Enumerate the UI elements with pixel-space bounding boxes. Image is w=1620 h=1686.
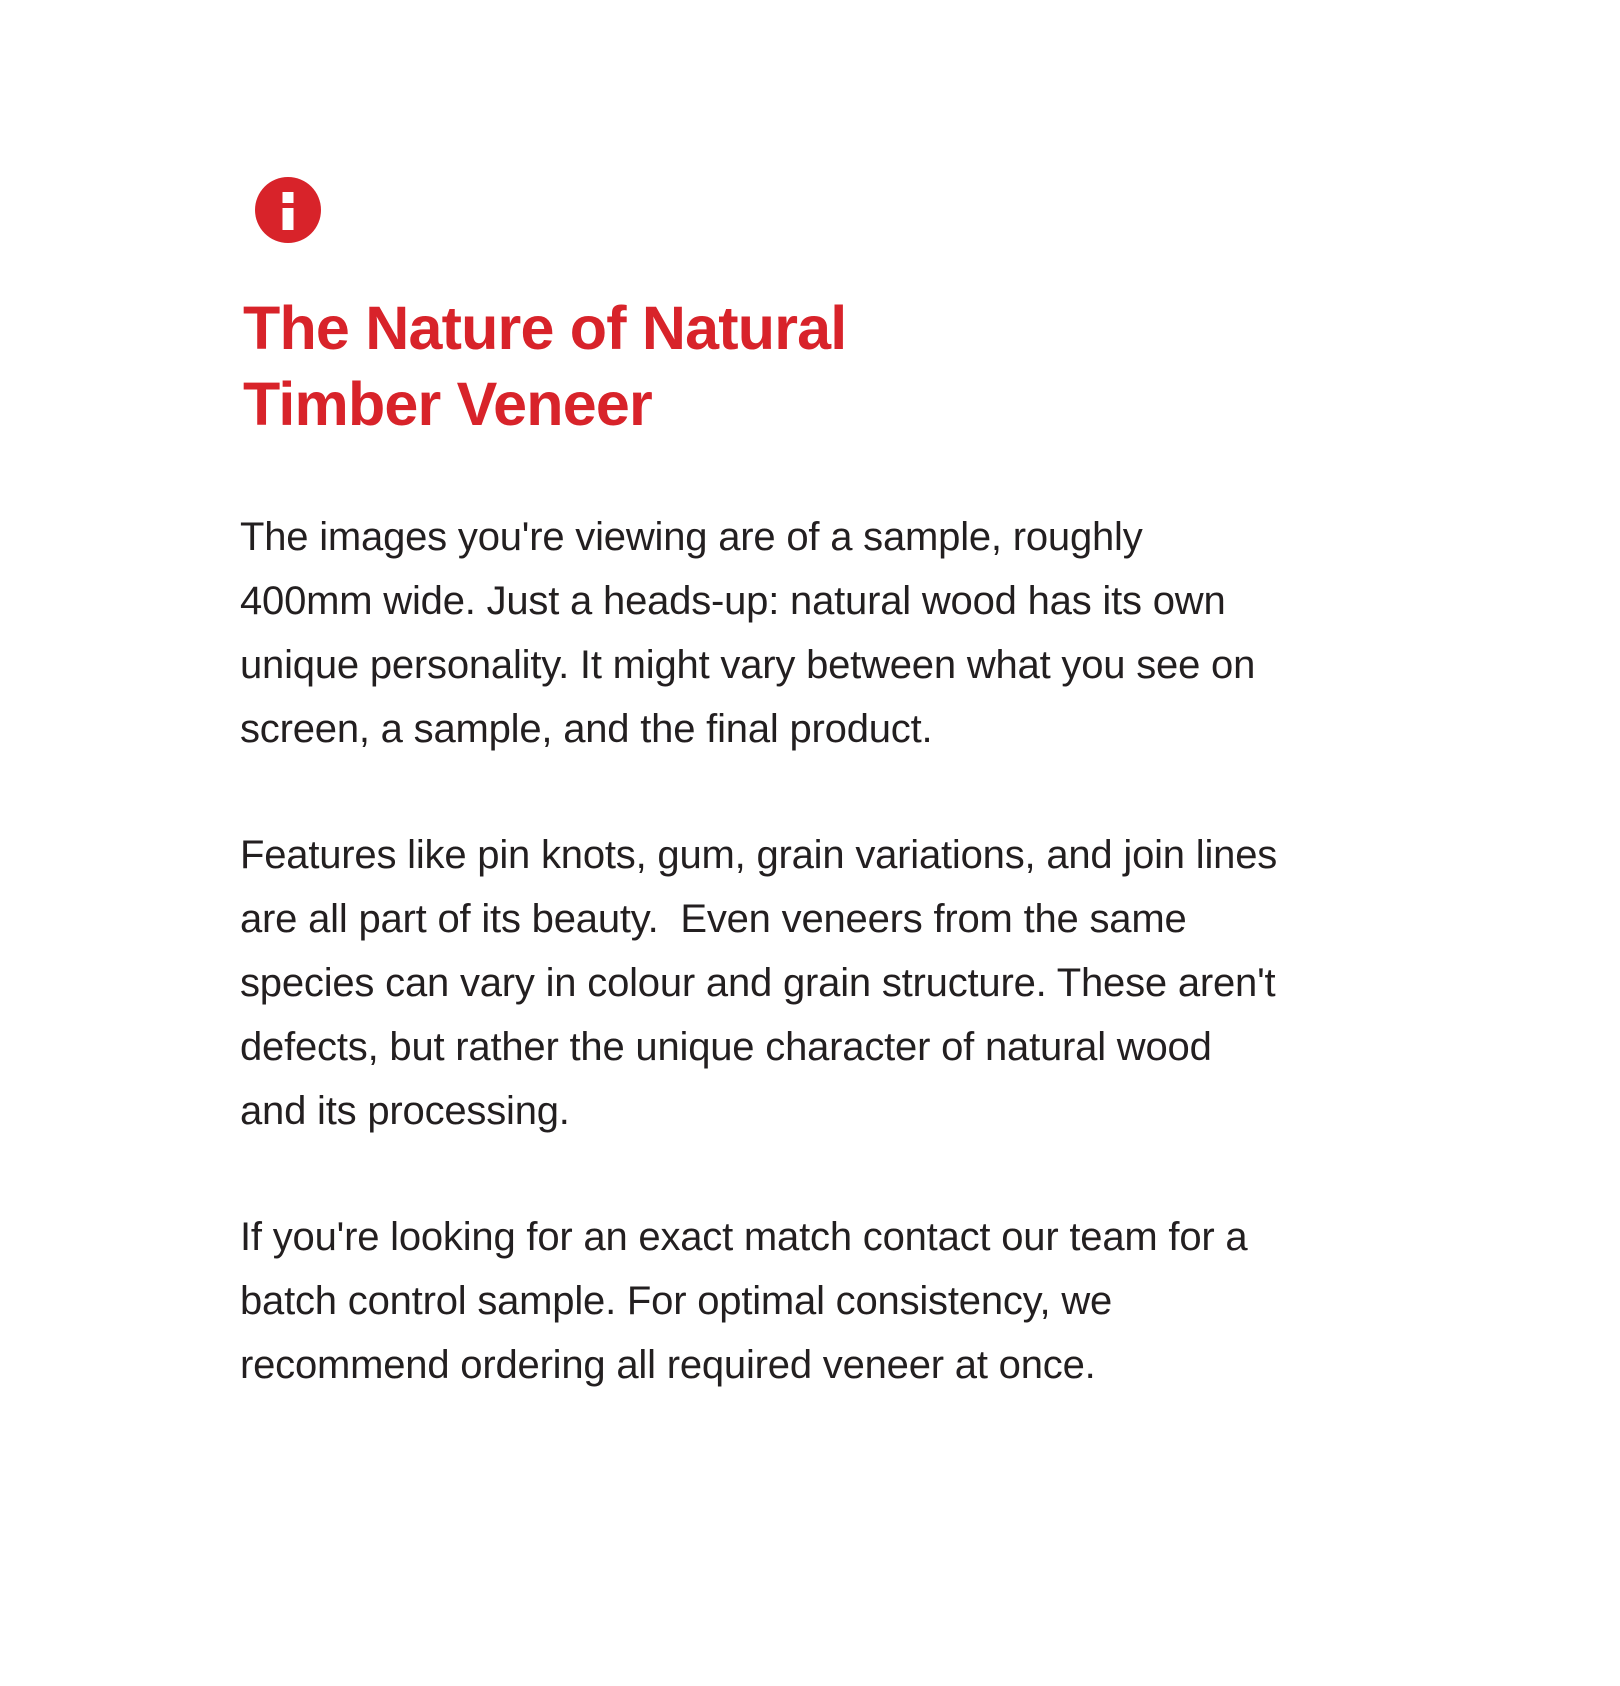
card-body: The images you're viewing are of a sampl… xyxy=(240,505,1285,1397)
body-paragraph-3: If you're looking for an exact match con… xyxy=(240,1205,1285,1397)
info-panel-page: The Nature of Natural Timber Veneer The … xyxy=(0,0,1620,1686)
body-paragraph-2: Features like pin knots, gum, grain vari… xyxy=(240,823,1285,1143)
body-paragraph-1: The images you're viewing are of a sampl… xyxy=(240,505,1285,761)
info-icon-dot xyxy=(283,192,294,203)
page-title: The Nature of Natural Timber Veneer xyxy=(243,290,1300,442)
info-icon-stem xyxy=(283,208,294,230)
info-icon xyxy=(255,177,321,243)
natural-timber-veneer-info-card: The Nature of Natural Timber Veneer The … xyxy=(240,150,1300,1397)
